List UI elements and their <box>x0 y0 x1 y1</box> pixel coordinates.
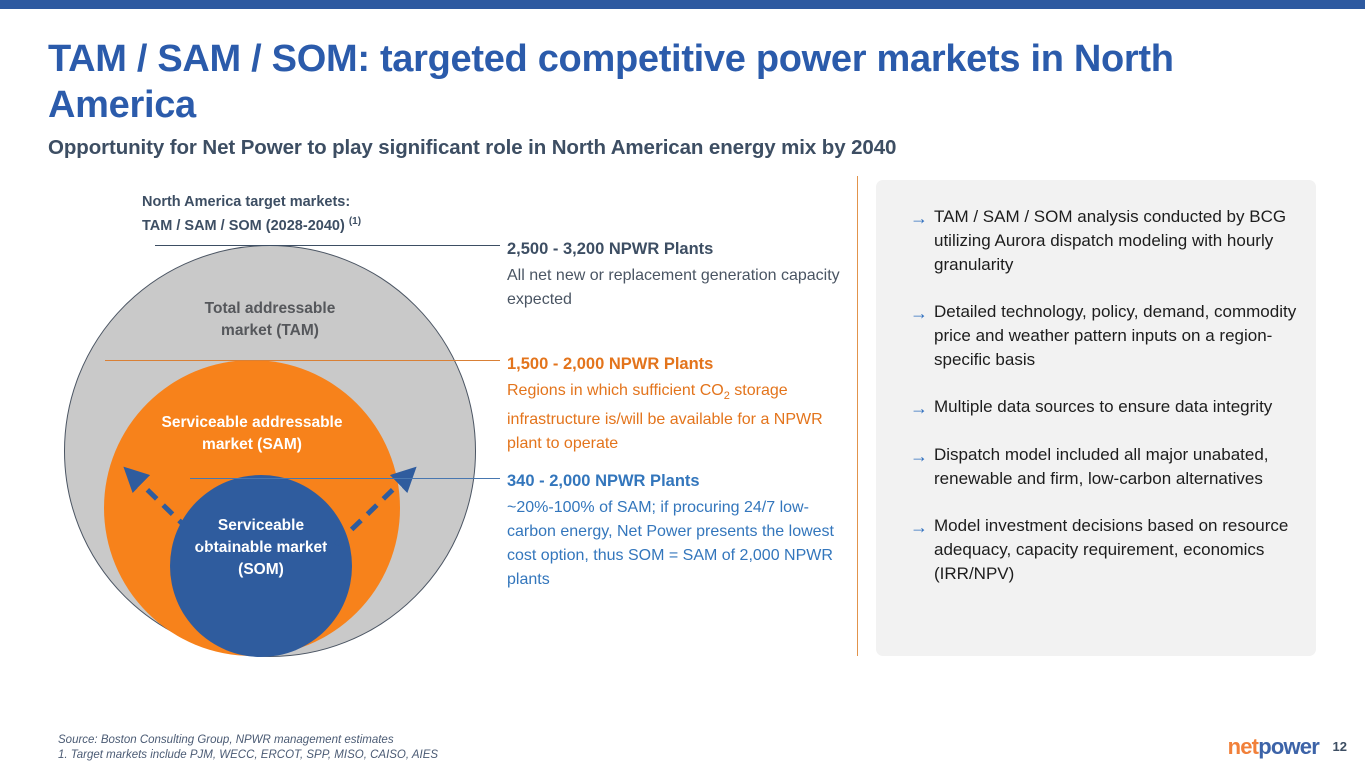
venn-label-sam-line1: Serviceable addressable <box>162 414 343 431</box>
arrow-right-icon: → <box>910 395 934 420</box>
venn-label-tam: Total addressable market (TAM) <box>205 298 336 342</box>
venn-label-som: Serviceable obtainable market (SOM) <box>195 515 328 581</box>
page-title: TAM / SAM / SOM: targeted competitive po… <box>48 36 1228 128</box>
footer-notes: Source: Boston Consulting Group, NPWR ma… <box>58 733 438 762</box>
list-item: → TAM / SAM / SOM analysis conducted by … <box>910 205 1305 277</box>
callout-tam-description: All net new or replacement generation ca… <box>507 264 852 312</box>
chart-heading-footnote-marker: (1) <box>349 216 361 227</box>
connector-line-tam <box>155 245 500 246</box>
list-item-label: Dispatch model included all major unabat… <box>934 443 1305 491</box>
arrow-right-icon: → <box>910 443 934 468</box>
connector-line-som <box>190 478 500 479</box>
footnote-line: 1. Target markets include PJM, WECC, ERC… <box>58 748 438 763</box>
callout-som: 340 - 2,000 NPWR Plants ~20%-100% of SAM… <box>507 470 852 592</box>
venn-label-sam-line2: market (SAM) <box>202 436 302 453</box>
callout-tam: 2,500 - 3,200 NPWR Plants All net new or… <box>507 238 852 312</box>
arrow-right-icon: → <box>910 300 934 325</box>
callout-som-description: ~20%-100% of SAM; if procuring 24/7 low-… <box>507 496 852 592</box>
venn-label-sam: Serviceable addressable market (SAM) <box>162 412 343 456</box>
list-item: → Detailed technology, policy, demand, c… <box>910 300 1305 372</box>
list-item: → Dispatch model included all major unab… <box>910 443 1305 491</box>
methodology-bullet-list: → TAM / SAM / SOM analysis conducted by … <box>910 205 1305 586</box>
panel-divider <box>857 176 858 656</box>
list-item: → Multiple data sources to ensure data i… <box>910 395 1305 420</box>
logo-net-text: net <box>1228 734 1259 759</box>
venn-label-tam-line2: market (TAM) <box>221 322 319 339</box>
list-item-label: TAM / SAM / SOM analysis conducted by BC… <box>934 205 1305 277</box>
venn-diagram: Total addressable market (TAM) Serviceab… <box>40 230 520 670</box>
logo-power-text: power <box>1258 734 1319 759</box>
arrow-right-icon: → <box>910 514 934 539</box>
list-item-label: Multiple data sources to ensure data int… <box>934 395 1305 419</box>
callout-sam: 1,500 - 2,000 NPWR Plants Regions in whi… <box>507 353 852 456</box>
netpower-logo: netpower <box>1228 734 1319 760</box>
list-item: → Model investment decisions based on re… <box>910 514 1305 586</box>
callout-sam-desc-pre: Regions in which sufficient CO <box>507 382 724 399</box>
connector-line-sam <box>105 360 500 361</box>
top-accent-bar <box>0 0 1365 9</box>
venn-label-som-line1: Serviceable <box>218 517 304 534</box>
callout-som-value: 340 - 2,000 NPWR Plants <box>507 470 852 492</box>
venn-label-som-line2: obtainable market <box>195 539 328 556</box>
list-item-label: Model investment decisions based on reso… <box>934 514 1305 586</box>
venn-label-tam-line1: Total addressable <box>205 300 336 317</box>
page-number: 12 <box>1333 739 1347 754</box>
arrow-right-icon: → <box>910 205 934 230</box>
callout-sam-value: 1,500 - 2,000 NPWR Plants <box>507 353 852 375</box>
chart-heading-line1: North America target markets: <box>142 194 350 210</box>
source-line: Source: Boston Consulting Group, NPWR ma… <box>58 733 438 748</box>
list-item-label: Detailed technology, policy, demand, com… <box>934 300 1305 372</box>
page-subtitle: Opportunity for Net Power to play signif… <box>48 136 1248 160</box>
callout-sam-description: Regions in which sufficient CO2 storage … <box>507 379 852 456</box>
venn-label-som-line3: (SOM) <box>238 561 284 578</box>
callout-tam-value: 2,500 - 3,200 NPWR Plants <box>507 238 852 260</box>
venn-circle-som: Serviceable obtainable market (SOM) <box>170 475 352 657</box>
